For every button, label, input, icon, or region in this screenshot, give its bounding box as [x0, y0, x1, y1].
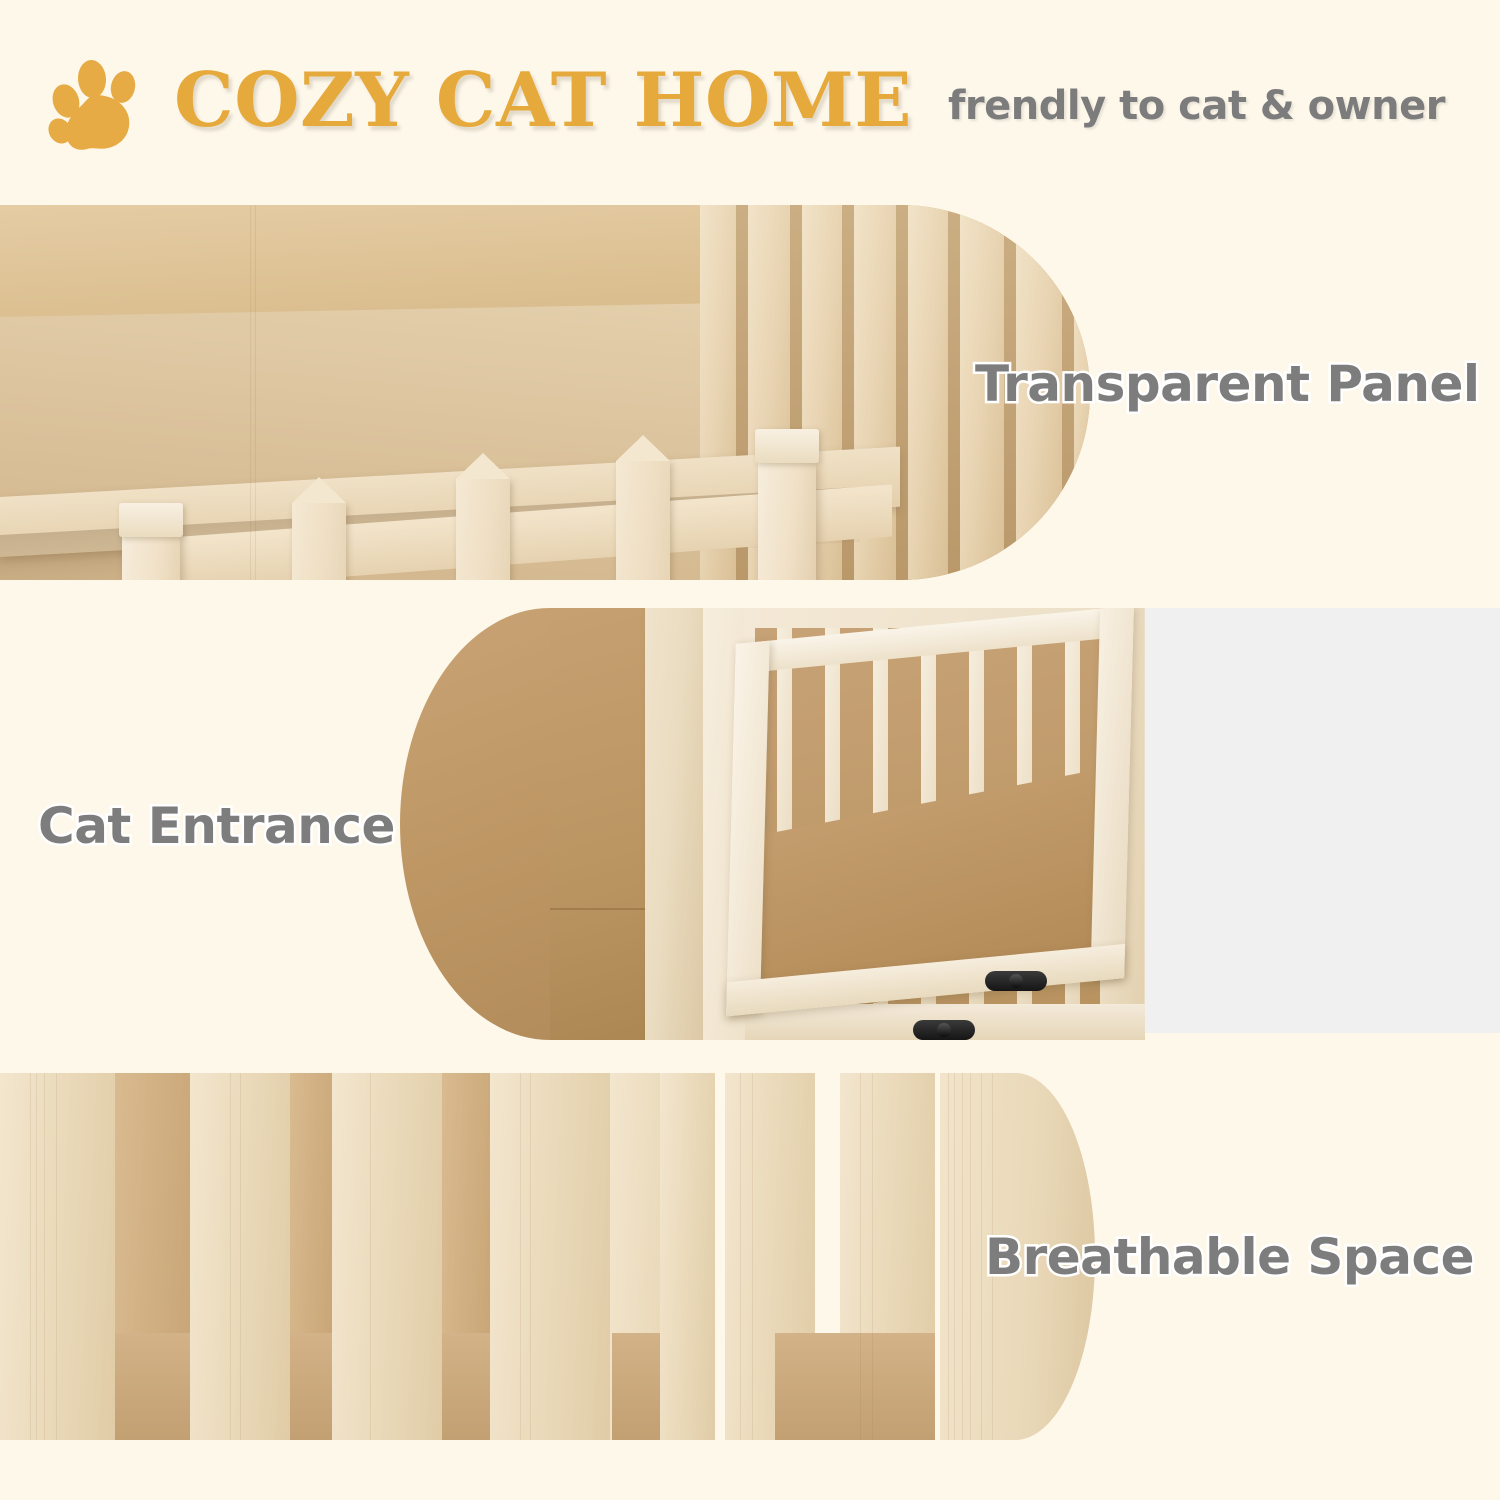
photo-slat-gap — [115, 1073, 190, 1333]
brand-title: COZY CAT HOME — [174, 63, 912, 138]
photo-picket-fence — [86, 441, 886, 580]
feature-label-breathable-space: Breathable Space — [985, 1228, 1474, 1286]
photo-slat — [490, 1073, 610, 1440]
feature-photo-transparent-panel — [0, 205, 1090, 580]
brand-title-text: COZY CAT HOME — [174, 56, 912, 144]
door-latch-upper — [985, 971, 1047, 991]
photo-door-frame-left — [645, 608, 703, 1040]
fence-picket — [456, 479, 510, 580]
fence-picket — [292, 503, 346, 580]
fence-post-cap — [119, 503, 183, 537]
feature-label-transparent-panel: Transparent Panel — [975, 355, 1480, 413]
feature-label-cat-entrance: Cat Entrance — [38, 797, 395, 855]
fence-picket — [616, 461, 670, 580]
door-latch-lower — [913, 1020, 975, 1040]
feature-photo-breathable-space — [0, 1073, 1095, 1440]
photo-slat — [0, 1073, 115, 1440]
photo-open-door — [726, 608, 1134, 1016]
photo-slat — [332, 1073, 442, 1440]
photo-slat — [660, 1073, 715, 1440]
fence-post-right — [758, 463, 816, 580]
photo-floor — [115, 1333, 190, 1440]
paw-print-icon — [46, 55, 150, 151]
photo-floor — [290, 1333, 332, 1440]
feature-photo-cat-entrance — [400, 608, 1500, 1040]
page-header: COZY CAT HOME frendly to cat & owner — [0, 0, 1500, 200]
photo-floor — [775, 1333, 935, 1440]
photo-floor — [612, 1333, 660, 1440]
fence-post-left — [122, 533, 180, 580]
photo-slat-gap — [442, 1073, 490, 1333]
photo-floor — [442, 1333, 490, 1440]
brand-tagline: frendly to cat & owner — [948, 83, 1445, 129]
photo-studio-backdrop — [1140, 608, 1500, 1033]
fence-post-cap — [755, 429, 819, 463]
photo-slat-gap — [290, 1073, 332, 1333]
